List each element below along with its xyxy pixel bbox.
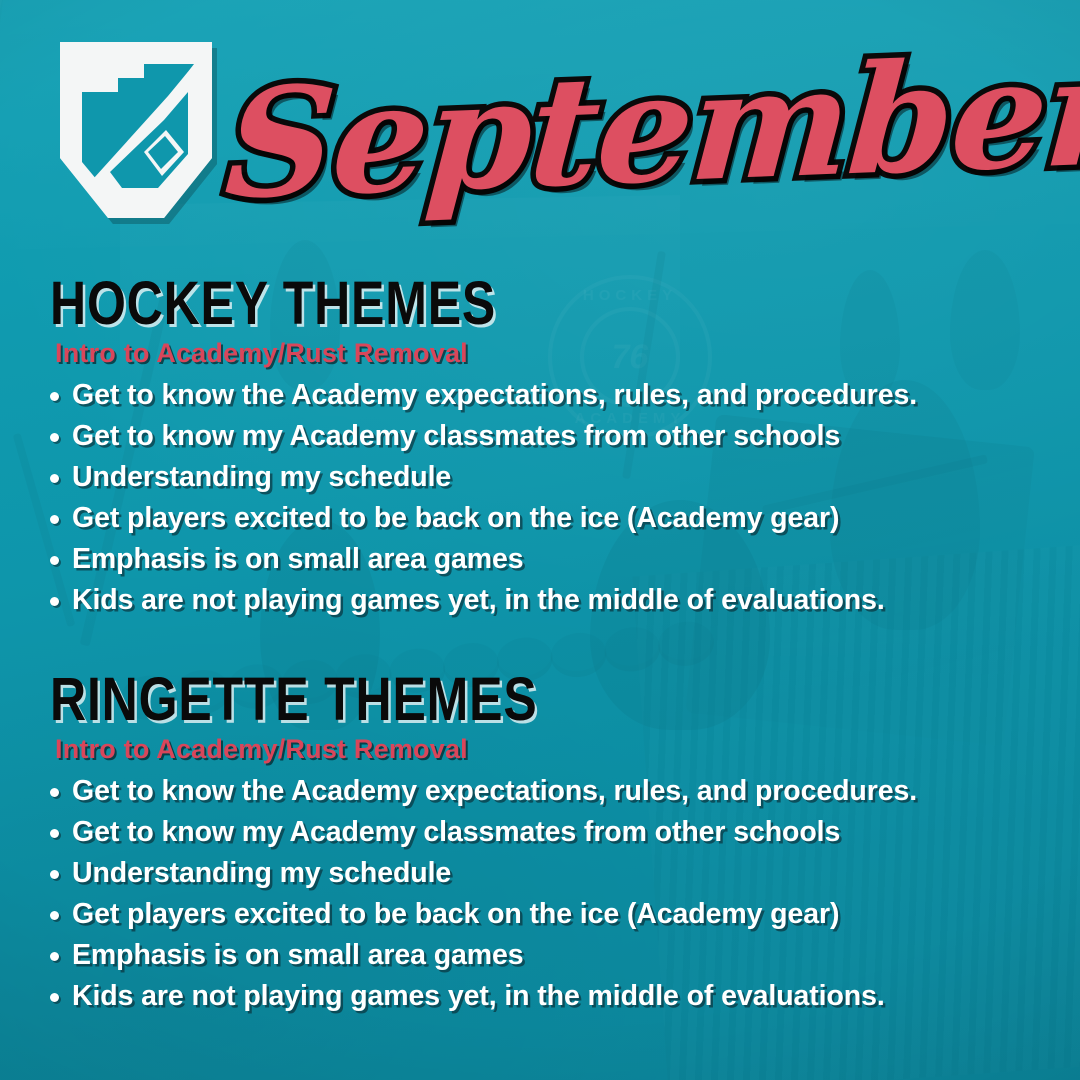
list-item: Get players excited to be back on the ic… [72, 894, 1080, 935]
section-ringette-themes: RINGETTE THEMES Intro to Academy/Rust Re… [0, 668, 1080, 1017]
poster-canvas: HOCKEY 76 ACADEMY [0, 0, 1080, 1080]
list-item: Get players excited to be back on the ic… [72, 498, 1080, 539]
list-item: Kids are not playing games yet, in the m… [72, 580, 1080, 621]
list-item: Get to know the Academy expectations, ru… [72, 771, 1080, 812]
month-label: September [222, 36, 1080, 220]
list-item: Understanding my schedule [72, 853, 1080, 894]
ringette-themes-list: Get to know the Academy expectations, ru… [0, 771, 1080, 1017]
hockey-themes-subtitle: Intro to Academy/Rust Removal [55, 338, 1080, 369]
poster-header: September [0, 0, 1080, 250]
list-item: Understanding my schedule [72, 457, 1080, 498]
page-title: September [228, 28, 1058, 228]
list-item: Get to know my Academy classmates from o… [72, 416, 1080, 457]
section-hockey-themes: HOCKEY THEMES Intro to Academy/Rust Remo… [0, 272, 1080, 621]
list-item: Get to know the Academy expectations, ru… [72, 375, 1080, 416]
list-item: Get to know my Academy classmates from o… [72, 812, 1080, 853]
list-item: Emphasis is on small area games [72, 539, 1080, 580]
ringette-themes-subtitle: Intro to Academy/Rust Removal [55, 734, 1080, 765]
hockey-themes-list: Get to know the Academy expectations, ru… [0, 375, 1080, 621]
poster-content: September HOCKEY THEMES Intro to Academy… [0, 0, 1080, 1080]
list-item: Emphasis is on small area games [72, 935, 1080, 976]
ringette-themes-heading: RINGETTE THEMES [50, 668, 895, 730]
academy-76-shield-logo-icon [44, 36, 228, 226]
list-item: Kids are not playing games yet, in the m… [72, 976, 1080, 1017]
hockey-themes-heading: HOCKEY THEMES [50, 272, 895, 334]
